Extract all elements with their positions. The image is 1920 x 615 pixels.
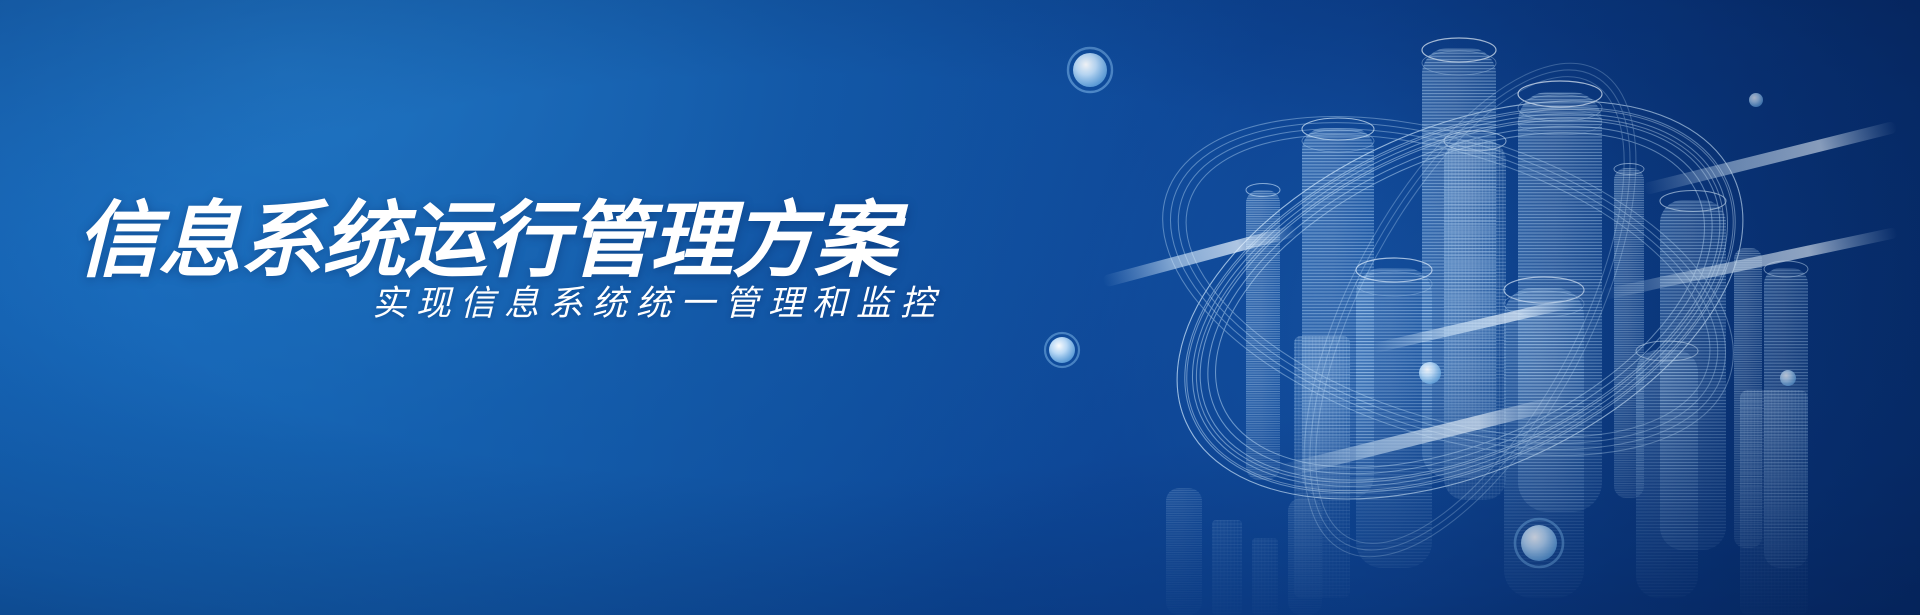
banner-title: 信息系统运行管理方案 (76, 196, 896, 286)
banner-hero: 信息系统运行管理方案 实现信息系统统一管理和监控 (0, 0, 1920, 615)
hero-text-block: 信息系统运行管理方案 实现信息系统统一管理和监控 (0, 0, 1000, 615)
banner-subtitle: 实现信息系统统一管理和监控 (372, 275, 944, 326)
